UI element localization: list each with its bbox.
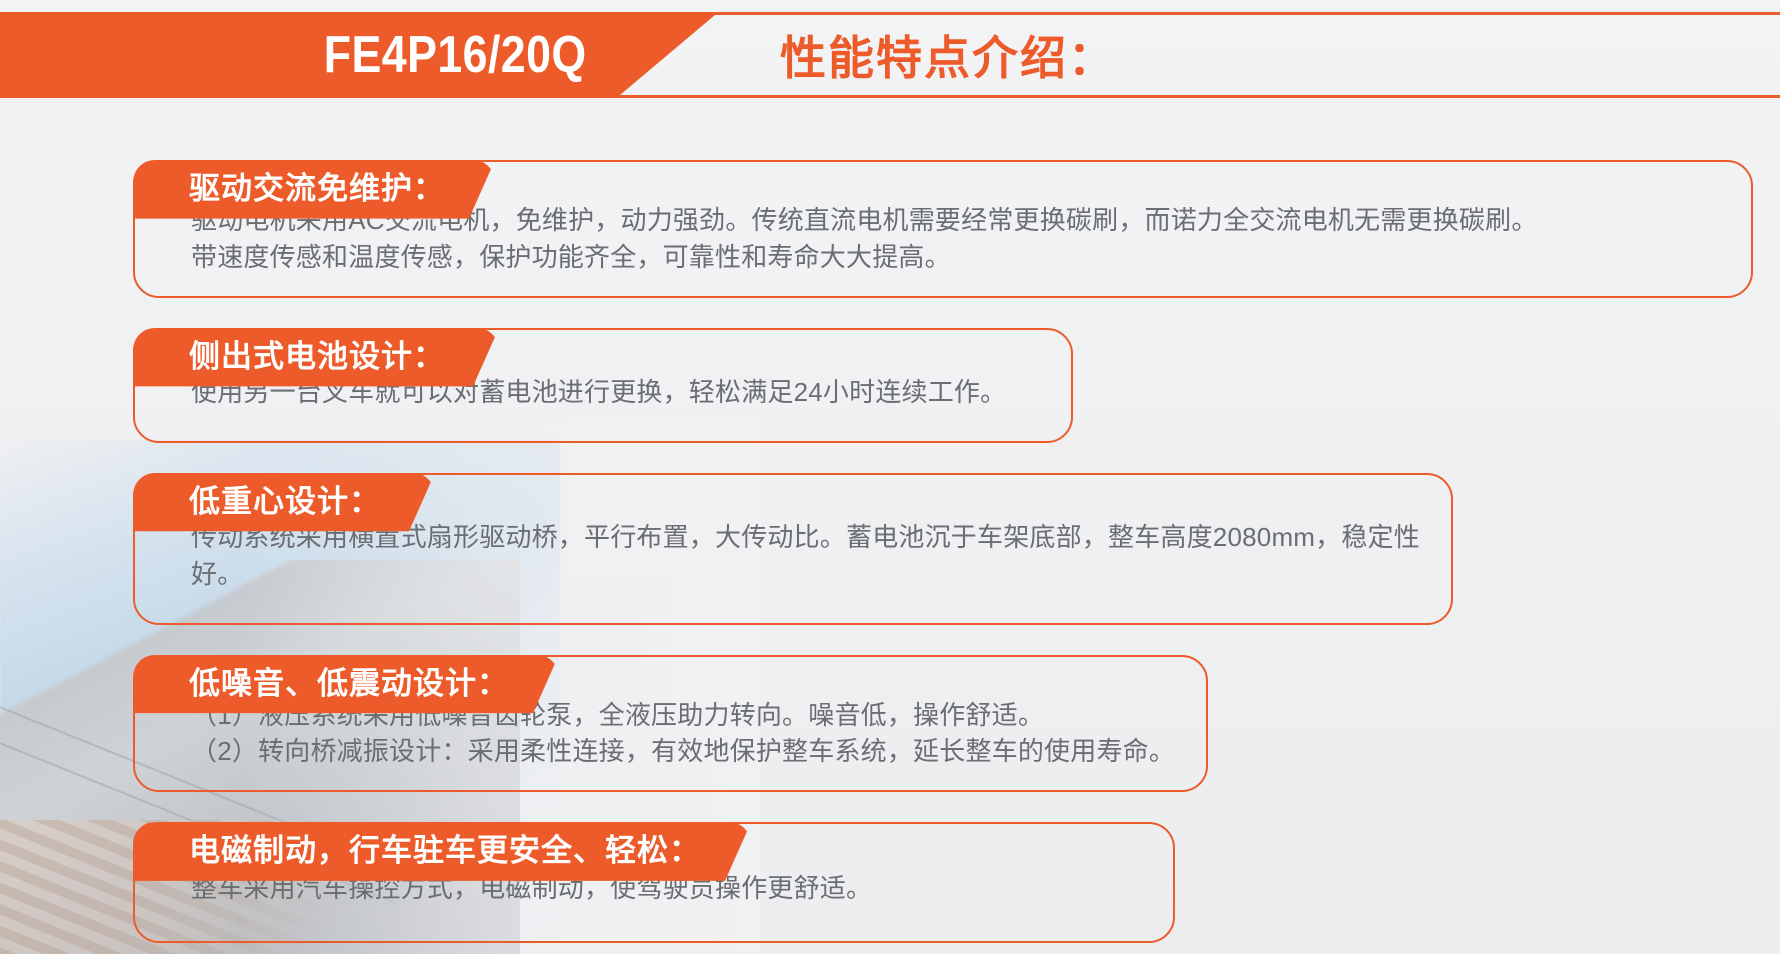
feature-card-low-noise-low-vibration: 低噪音、低震动设计： （1）液压系统采用低噪音齿轮泵，全液压助力转向。噪音低，操…	[133, 655, 1753, 793]
header-banner: FE4P16/20Q 性能特点介绍：	[0, 12, 1780, 98]
feature-tag: 低噪音、低震动设计：	[133, 655, 559, 714]
feature-tag: 驱动交流免维护：	[133, 160, 495, 219]
feature-list: 驱动交流免维护： 驱动电机采用AC交流电机，免维护，动力强劲。传统直流电机需要经…	[133, 130, 1753, 954]
feature-tag: 低重心设计：	[133, 473, 435, 532]
feature-tag: 侧出式电池设计：	[133, 328, 499, 387]
page-title: 性能特点介绍：	[780, 15, 1116, 95]
feature-tag: 电磁制动，行车驻车更安全、轻松：	[133, 822, 751, 881]
feature-card-electromagnetic-brake: 电磁制动，行车驻车更安全、轻松： 整车采用汽车操控方式，电磁制动，使驾驶员操作更…	[133, 822, 1753, 943]
feature-card-low-center-of-gravity: 低重心设计： 传动系统采用横置式扇形驱动桥，平行布置，大传动比。蓄电池沉于车架底…	[133, 473, 1753, 625]
model-badge: FE4P16/20Q	[0, 15, 715, 95]
header-bottom-rule	[0, 95, 1780, 98]
feature-card-side-battery-design: 侧出式电池设计： 使用另一台叉车就可以对蓄电池进行更换，轻松满足24小时连续工作…	[133, 328, 1753, 443]
slide-page: FE4P16/20Q 性能特点介绍： 驱动交流免维护： 驱动电机采用AC交流电机…	[0, 0, 1780, 954]
feature-card-drive-ac-maintenance-free: 驱动交流免维护： 驱动电机采用AC交流电机，免维护，动力强劲。传统直流电机需要经…	[133, 160, 1753, 298]
model-label: FE4P16/20Q	[324, 25, 587, 85]
